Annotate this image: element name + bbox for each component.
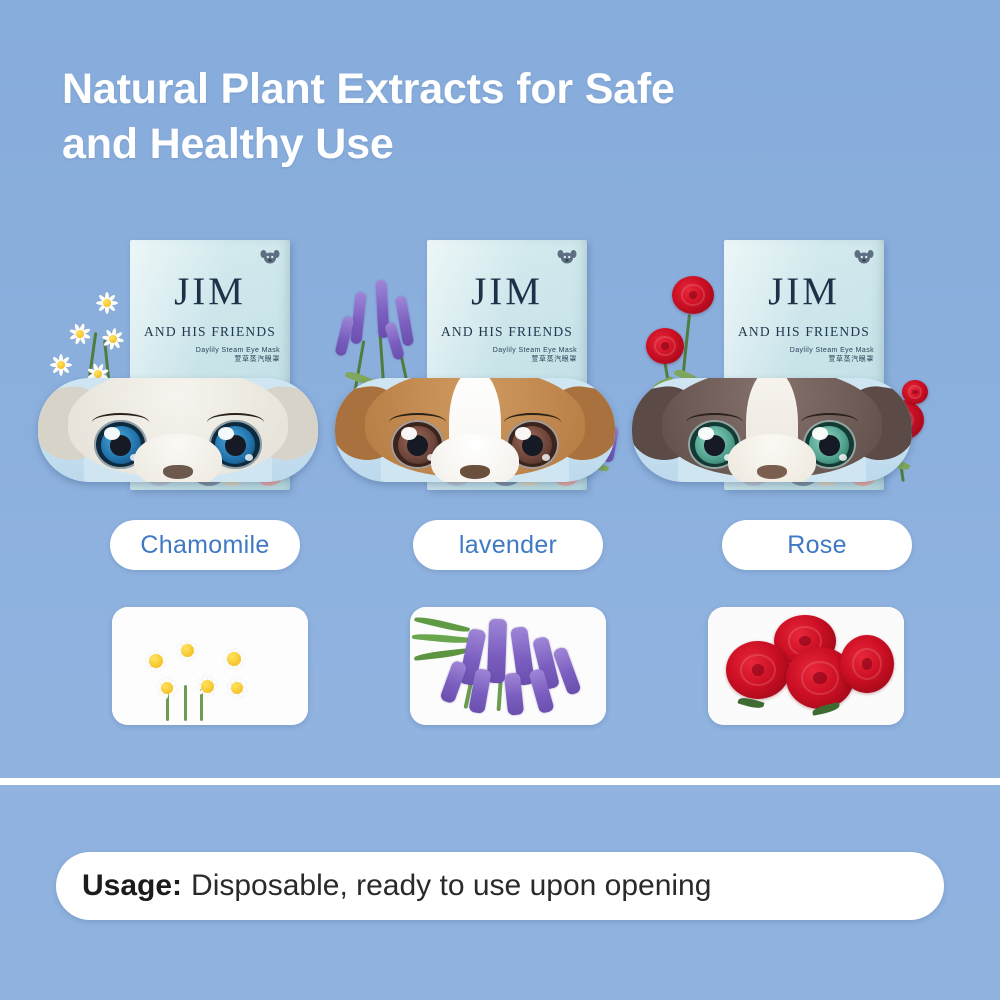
eye-mask-rose[interactable]: DAYLILY xyxy=(632,378,912,482)
lavender-flowers-photo xyxy=(410,607,606,725)
dog-face-logo-icon xyxy=(851,247,877,267)
dog-nose xyxy=(460,465,491,479)
lavender-spike xyxy=(375,280,389,338)
eye-mask-chamomile[interactable]: DAYLILY xyxy=(38,378,318,482)
box-product-name-cn: 萱草蒸汽眼罩 xyxy=(196,355,280,364)
box-product-name-cn: 萱草蒸汽眼罩 xyxy=(493,355,577,364)
product-column-rose: JIM AND HIS FRIENDS Daylily Steam Eye Ma… xyxy=(622,228,922,513)
product-column-lavender: JIM AND HIS FRIENDS Daylily Steam Eye Ma… xyxy=(325,228,625,513)
dog-nose xyxy=(163,465,194,479)
usage-text: Disposable, ready to use upon opening xyxy=(191,869,711,903)
product-showcase: JIM AND HIS FRIENDS Daylily Steam Eye Ma… xyxy=(0,228,1000,513)
box-product-name-en: Daylily Steam Eye Mask xyxy=(790,346,874,355)
scent-label-row: Chamomile lavender Rose xyxy=(0,520,1000,576)
scent-label-text: lavender xyxy=(459,531,557,560)
rose-flower xyxy=(672,276,714,314)
red-roses-photo xyxy=(708,607,904,725)
usage-banner: Usage: Disposable, ready to use upon ope… xyxy=(56,852,944,920)
flower-photo-card-lavender[interactable] xyxy=(410,607,606,725)
section-divider xyxy=(0,778,1000,785)
dog-face-artwork-brown-white-puppy xyxy=(365,378,585,482)
lavender-spike xyxy=(395,295,415,346)
box-brand-name: JIM xyxy=(427,272,587,311)
lavender-spike xyxy=(334,315,354,356)
eye-mask-lavender[interactable]: DAYLILY xyxy=(335,378,615,482)
box-tagline: AND HIS FRIENDS xyxy=(130,324,290,340)
rose-flower xyxy=(646,328,684,364)
box-brand-name: JIM xyxy=(724,272,884,311)
box-product-name-cn: 萱草蒸汽眼罩 xyxy=(790,355,874,364)
daisy-flower xyxy=(64,318,96,350)
box-product-name-en: Daylily Steam Eye Mask xyxy=(493,346,577,355)
box-tagline: AND HIS FRIENDS xyxy=(724,324,884,340)
scent-label-rose[interactable]: Rose xyxy=(722,520,912,570)
chamomile-flowers-photo xyxy=(112,607,308,725)
dog-nose xyxy=(757,465,788,479)
flower-photo-card-row xyxy=(0,607,1000,729)
box-tagline: AND HIS FRIENDS xyxy=(427,324,587,340)
dog-face-logo-icon xyxy=(257,247,283,267)
flower-photo-card-rose[interactable] xyxy=(708,607,904,725)
scent-label-chamomile[interactable]: Chamomile xyxy=(110,520,300,570)
scent-label-lavender[interactable]: lavender xyxy=(413,520,603,570)
daisy-flower xyxy=(90,286,124,320)
box-product-name-group: Daylily Steam Eye Mask 萱草蒸汽眼罩 xyxy=(493,346,577,365)
box-brand-name: JIM xyxy=(130,272,290,311)
box-product-name-en: Daylily Steam Eye Mask xyxy=(196,346,280,355)
box-product-name-group: Daylily Steam Eye Mask 萱草蒸汽眼罩 xyxy=(196,346,280,365)
dog-face-artwork-white-puppy xyxy=(68,378,288,482)
page-title-line-1: Natural Plant Extracts for Safe xyxy=(62,62,822,117)
flower-photo-card-chamomile[interactable] xyxy=(112,607,308,725)
page-title: Natural Plant Extracts for Safe and Heal… xyxy=(62,62,822,172)
box-product-name-group: Daylily Steam Eye Mask 萱草蒸汽眼罩 xyxy=(790,346,874,365)
scent-label-text: Chamomile xyxy=(140,531,269,560)
usage-label: Usage: xyxy=(82,869,182,903)
dog-face-logo-icon xyxy=(554,247,580,267)
daisy-flower xyxy=(98,324,128,354)
dog-face-artwork-dark-grey-puppy xyxy=(662,378,882,482)
lavender-spike xyxy=(350,292,366,345)
scent-label-text: Rose xyxy=(787,531,847,560)
page-title-line-2: and Healthy Use xyxy=(62,117,822,172)
lavender-spike xyxy=(384,321,405,361)
product-column-chamomile: JIM AND HIS FRIENDS Daylily Steam Eye Ma… xyxy=(28,228,328,513)
daisy-flower xyxy=(46,350,76,380)
